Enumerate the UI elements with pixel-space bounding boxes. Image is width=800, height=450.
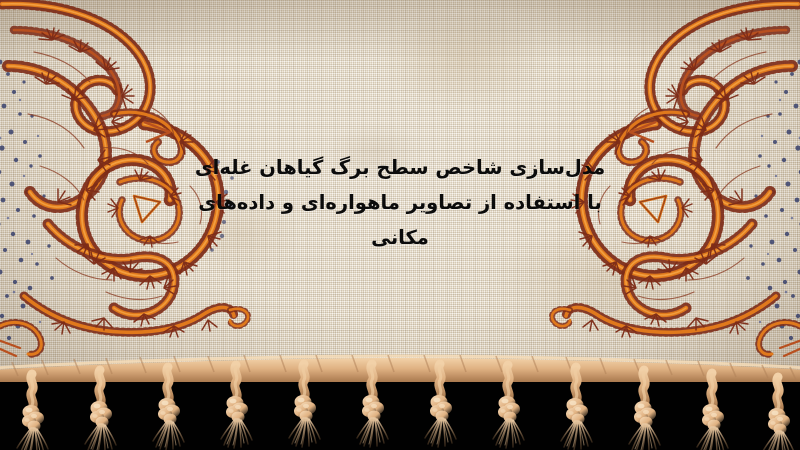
slide-canvas: مدل‌سازی شاخص سطح برگ گیاهان غله‌ای با ا… [0,0,800,450]
title-line-3: مکانی [150,220,650,255]
slide-title: مدل‌سازی شاخص سطح برگ گیاهان غله‌ای با ا… [0,150,800,255]
cloth-top-shading [0,0,800,60]
title-line-1: مدل‌سازی شاخص سطح برگ گیاهان غله‌ای [150,150,650,185]
title-line-2: با استفاده از تصاویر ماهواره‌ای و داده‌ه… [150,185,650,220]
cloth-fringe [0,352,800,450]
fringe-selvedge-rope [0,355,800,382]
termeh-cloth: مدل‌سازی شاخص سطح برگ گیاهان غله‌ای با ا… [0,0,800,378]
